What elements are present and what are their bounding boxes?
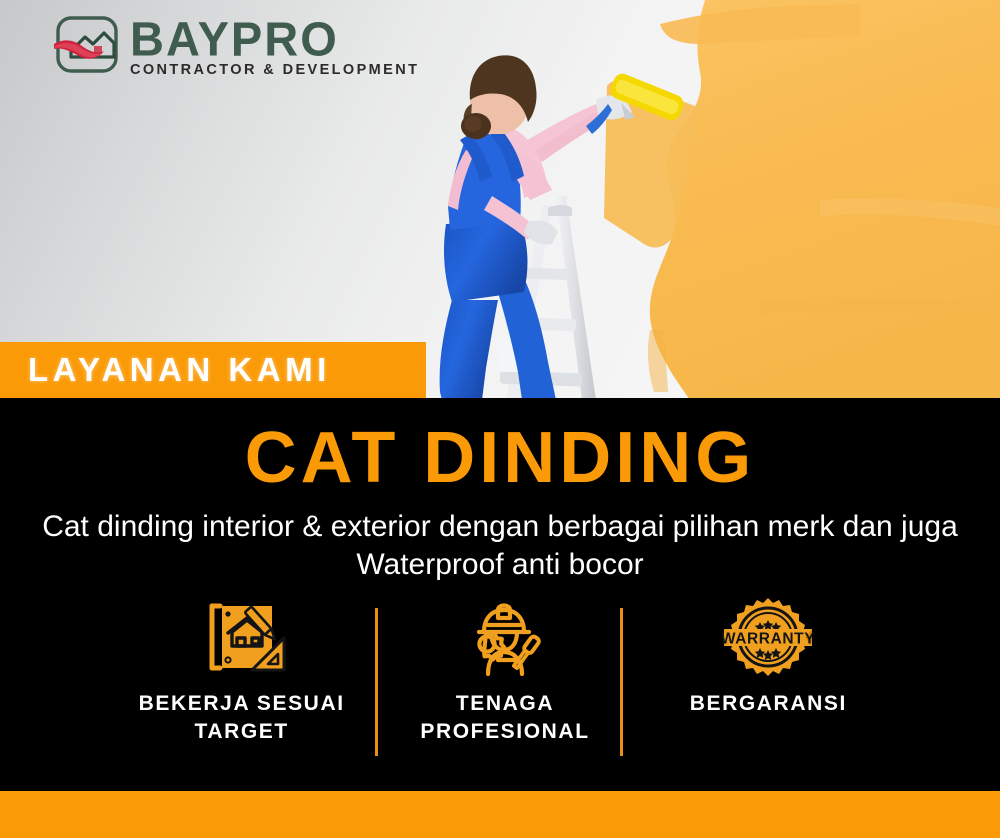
features-row: BEKERJA SESUAI TARGET — [110, 598, 900, 763]
content-panel: CAT DINDING Cat dinding interior & exter… — [0, 398, 1000, 791]
feature-bekerja-sesuai-target: BEKERJA SESUAI TARGET — [110, 598, 373, 747]
feature-label: TENAGA PROFESIONAL — [420, 690, 589, 747]
warranty-badge-text: WARRANTY — [722, 631, 814, 648]
feature-tenaga-profesional: TENAGA PROFESIONAL — [373, 598, 636, 747]
worker-hardhat-gear-screwdriver-icon — [458, 598, 552, 676]
blueprint-house-pencil-ruler-icon — [196, 598, 288, 676]
brand-logo[interactable]: BAYPRO CONTRACTOR & DEVELOPMENT — [52, 8, 422, 84]
feature-label: BERGARANSI — [690, 690, 847, 718]
bottom-accent-bar — [0, 791, 1000, 838]
service-banner: LAYANAN KAMI — [0, 342, 426, 398]
brand-name: BAYPRO — [130, 14, 419, 62]
promo-poster: BAYPRO CONTRACTOR & DEVELOPMENT LAYANAN … — [0, 0, 1000, 838]
brand-logo-text: BAYPRO CONTRACTOR & DEVELOPMENT — [130, 15, 419, 78]
feature-divider-1 — [375, 608, 378, 756]
house-roof-wave-badge-icon — [52, 13, 124, 79]
page-subtitle: Cat dinding interior & exterior dengan b… — [0, 508, 1000, 585]
feature-divider-2 — [620, 608, 623, 756]
feature-bergaransi: WARRANTY BERGARANSI — [637, 598, 900, 718]
service-banner-label: LAYANAN KAMI — [0, 351, 331, 389]
page-title: CAT DINDING — [0, 422, 1000, 494]
warranty-seal-badge-icon: WARRANTY — [722, 598, 814, 676]
feature-label: BEKERJA SESUAI TARGET — [139, 690, 345, 747]
